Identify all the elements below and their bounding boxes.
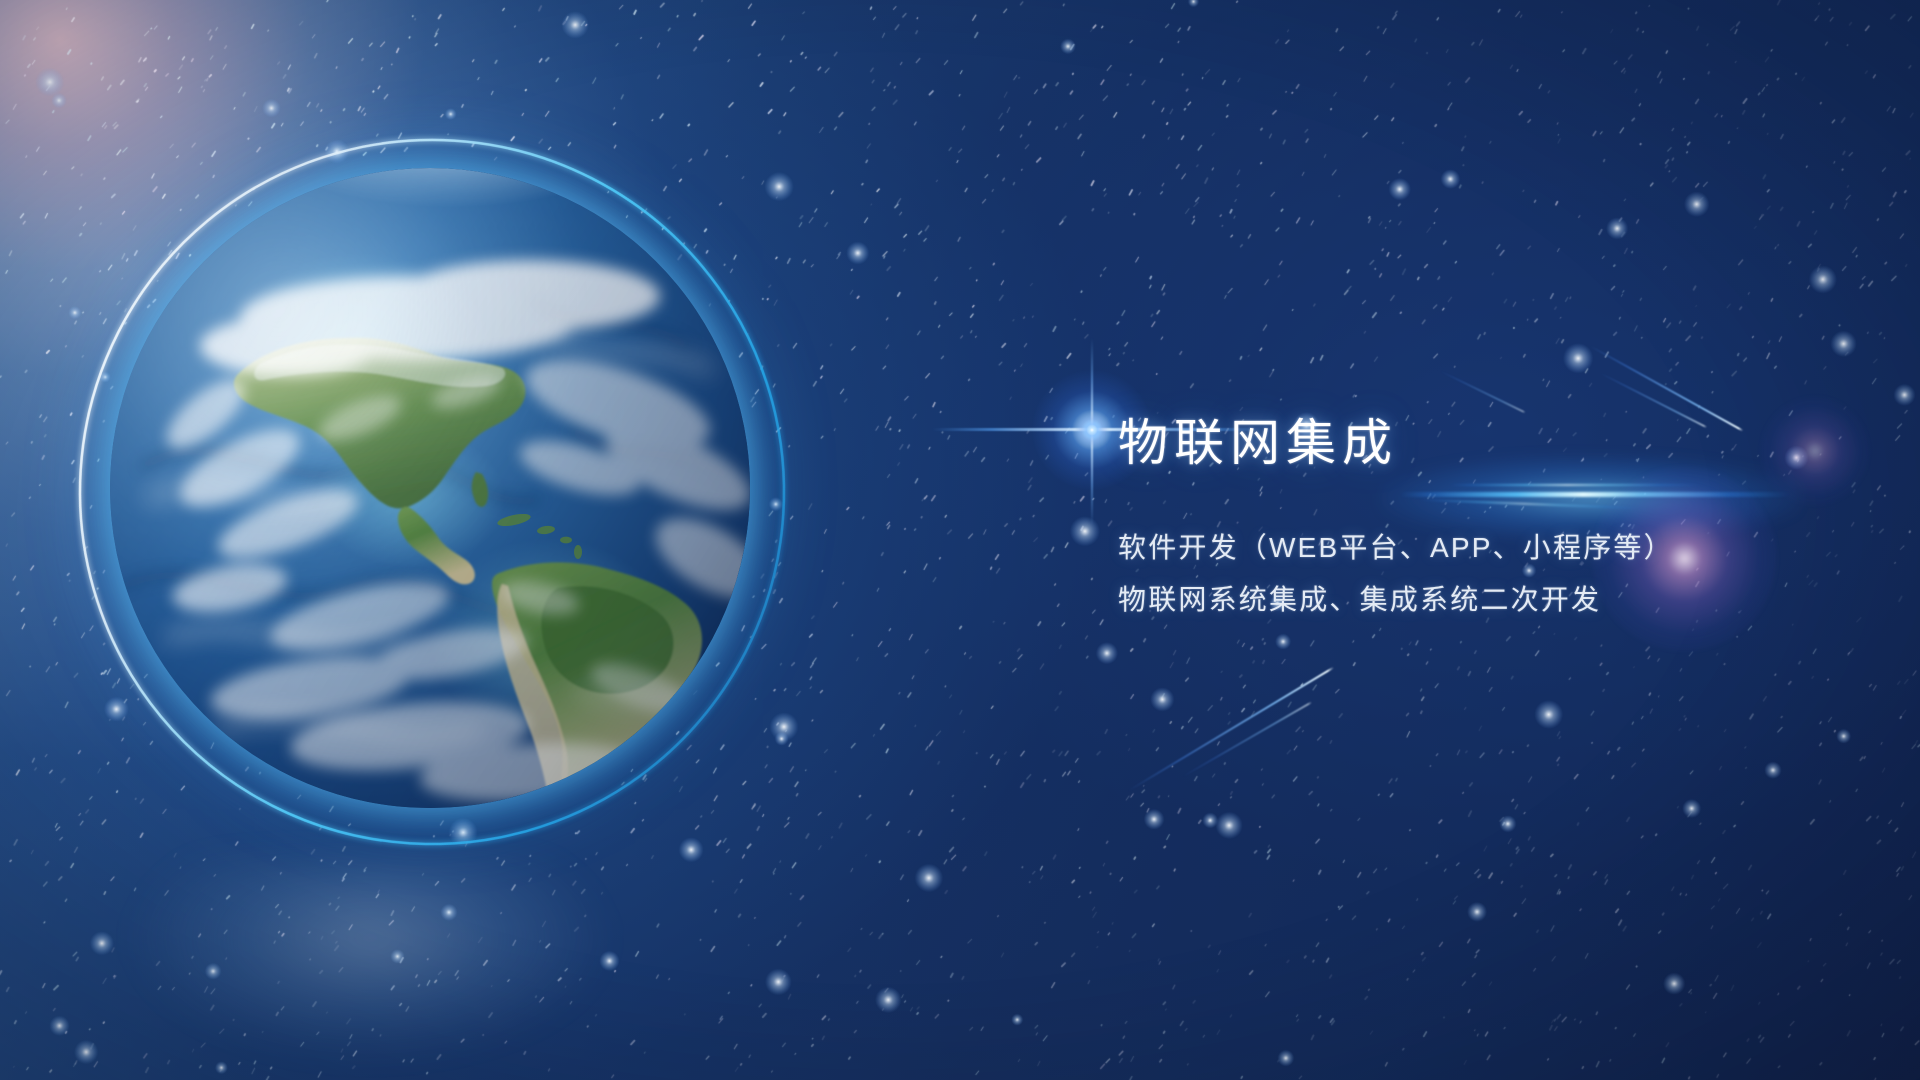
meteor-streak-icon — [1440, 370, 1526, 413]
banner-subtitle-1: 软件开发（WEB平台、APP、小程序等） — [1118, 534, 1674, 562]
light-beam-tertiary-icon — [1420, 499, 1640, 509]
banner-copy: 物联网集成 软件开发（WEB平台、APP、小程序等） 物联网系统集成、集成系统二… — [1118, 418, 1878, 468]
banner-subtitle-2: 物联网系统集成、集成系统二次开发 — [1118, 586, 1601, 614]
meteor-streak-icon — [1182, 701, 1313, 778]
lens-flare-ray-vertical-icon — [1091, 338, 1093, 526]
aurora-glow-icon — [60, 860, 680, 1080]
earth-sphere-icon — [110, 168, 750, 808]
page-title: 物联网集成 — [1118, 418, 1878, 468]
earth-globe — [110, 168, 750, 808]
light-beam-secondary-icon — [1450, 484, 1700, 486]
light-beam-icon — [1400, 492, 1790, 497]
meteor-streak-icon — [1127, 667, 1334, 792]
banner-stage: 物联网集成 软件开发（WEB平台、APP、小程序等） 物联网系统集成、集成系统二… — [0, 0, 1920, 1080]
lens-flare-core-icon — [1075, 413, 1109, 447]
